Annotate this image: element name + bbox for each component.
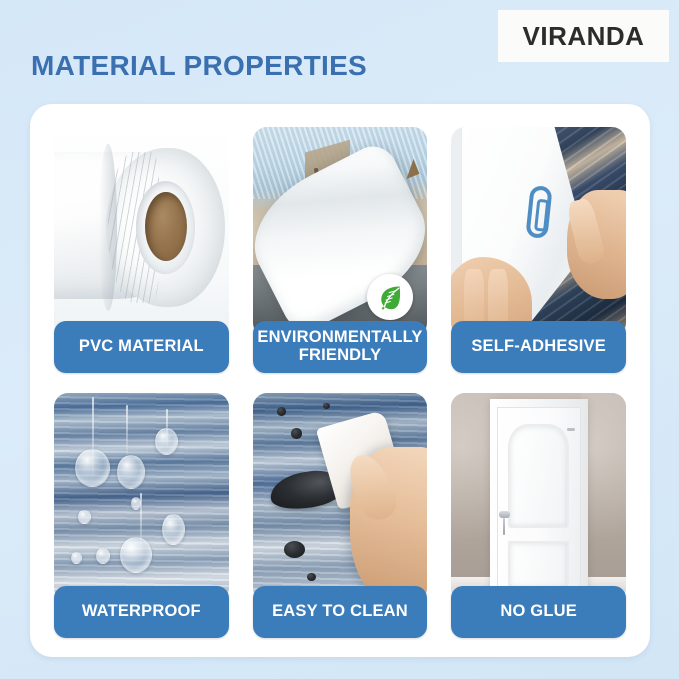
door-frame [490,399,588,596]
feature-label-no-glue: NO GLUE [451,586,626,638]
eco-wallpaper-photo [253,127,428,337]
pvc-roll-photo [54,127,229,337]
water-drop-8 [96,548,110,565]
feature-card-easy-to-clean: EASY TO CLEAN [245,387,436,641]
self-adhesive-photo [451,127,626,337]
feature-card-no-glue: NO GLUE [443,387,634,641]
door-latch [567,428,575,431]
feature-label-environmentally-friendly: ENVIRONMENTALLY FRIENDLY [253,321,428,373]
roll-cardboard-core [145,192,187,261]
door-slab [497,407,581,594]
easy-to-clean-photo [253,393,428,603]
no-glue-photo [451,393,626,603]
water-drop-1 [75,449,110,487]
stain-spot-1 [277,407,286,415]
feature-card-environmentally-friendly: ENVIRONMENTALLY FRIENDLY [245,121,436,375]
feature-label-waterproof: WATERPROOF [54,586,229,638]
water-drop-4 [120,537,151,573]
stain-spot-2 [323,403,330,409]
leaf-icon [367,274,413,320]
stain-spot-5 [284,541,305,558]
stain-spot-6 [307,573,316,581]
feature-grid: PVC MATERIAL [46,121,634,640]
water-trail-2 [126,405,128,455]
waterproof-photo [54,393,229,603]
door-handle [499,511,510,517]
door-panel-bottom [508,541,569,589]
page-title: MATERIAL PROPERTIES [31,50,367,82]
water-drop-2 [117,455,145,489]
cleaning-hand [350,447,427,602]
right-hand [567,190,626,299]
feature-label-easy-to-clean: EASY TO CLEAN [253,586,428,638]
feature-card-self-adhesive: SELF-ADHESIVE [443,121,634,375]
feature-card-waterproof: WATERPROOF [46,387,237,641]
water-drop-6 [78,510,90,525]
water-drop-3 [155,428,178,455]
roll-edge-shadow [99,144,116,312]
water-drop-7 [71,552,81,565]
brand-logo-badge: VIRANDA [498,10,669,62]
feature-card-pvc-material: PVC MATERIAL [46,121,237,375]
brand-name: VIRANDA [523,21,645,52]
feature-label-pvc-material: PVC MATERIAL [54,321,229,373]
feature-panel: PVC MATERIAL [30,104,650,657]
water-drop-9 [131,497,141,510]
feature-label-self-adhesive: SELF-ADHESIVE [451,321,626,373]
material-properties-infographic: VIRANDA MATERIAL PROPERTIES PVC MATERIAL [0,0,679,679]
water-drop-5 [162,514,185,545]
stain-spot-3 [291,428,301,438]
door-panel-top [508,424,569,528]
